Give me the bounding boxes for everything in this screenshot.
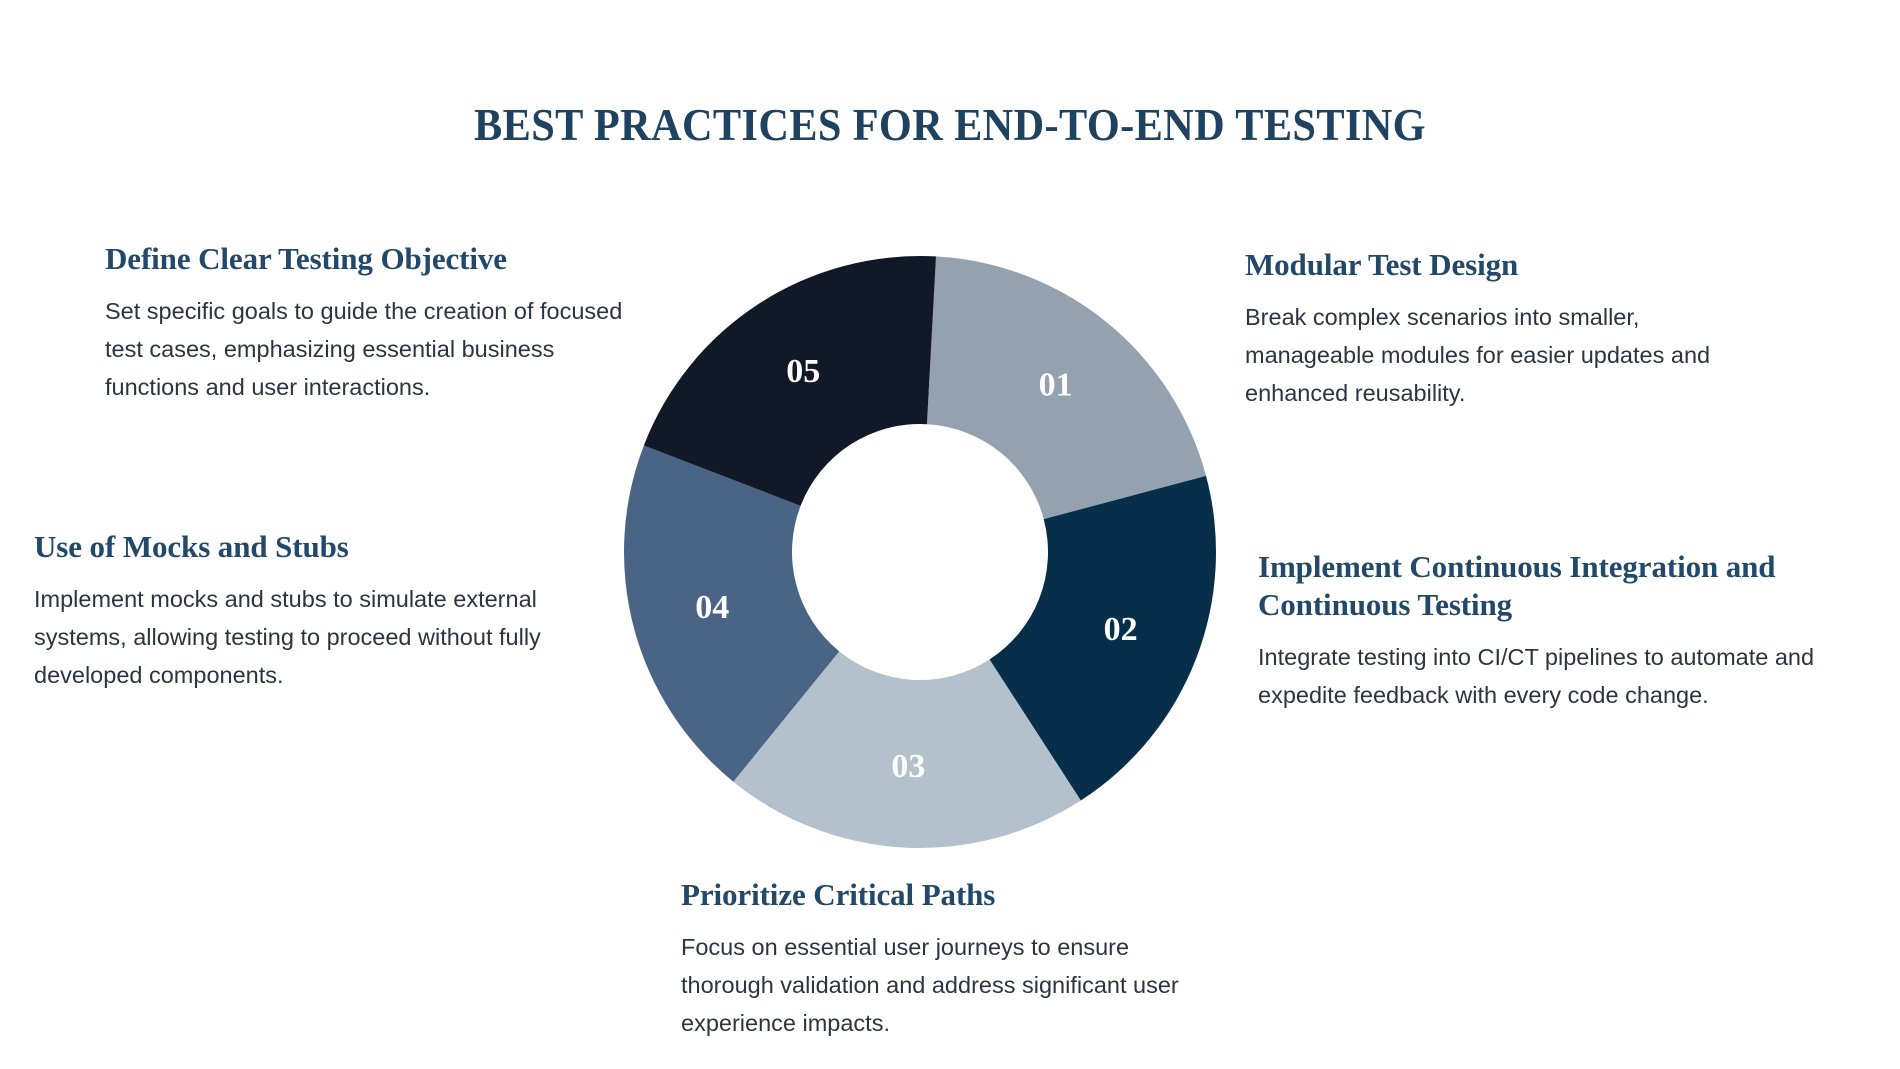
donut-segment-number-02: 02 (1104, 611, 1138, 648)
step-block-05: Use of Mocks and Stubs Implement mocks a… (34, 528, 614, 694)
step-heading-03: Implement Continuous Integration and Con… (1258, 548, 1818, 624)
page-title: BEST PRACTICES FOR END-TO-END TESTING (76, 98, 1824, 151)
step-heading-02: Modular Test Design (1245, 246, 1775, 284)
step-block-04: Prioritize Critical Paths Focus on essen… (681, 876, 1201, 1042)
step-body-01: Set specific goals to guide the creation… (105, 292, 625, 406)
step-block-03: Implement Continuous Integration and Con… (1258, 548, 1818, 714)
step-block-01: Define Clear Testing Objective Set speci… (105, 240, 625, 406)
donut-segment-number-05: 05 (786, 353, 820, 390)
step-block-02: Modular Test Design Break complex scenar… (1245, 246, 1775, 412)
donut-segment-number-03: 03 (891, 748, 925, 785)
donut-segment-number-01: 01 (1039, 367, 1073, 404)
donut-cycle-diagram: 0102030405 (604, 234, 1236, 866)
step-body-05: Implement mocks and stubs to simulate ex… (34, 580, 614, 694)
step-body-04: Focus on essential user journeys to ensu… (681, 928, 1201, 1042)
donut-svg: 0102030405 (604, 234, 1236, 866)
step-body-02: Break complex scenarios into smaller, ma… (1245, 298, 1775, 412)
step-heading-01: Define Clear Testing Objective (105, 240, 625, 278)
step-body-03: Integrate testing into CI/CT pipelines t… (1258, 638, 1818, 714)
step-heading-05: Use of Mocks and Stubs (34, 528, 614, 566)
step-heading-04: Prioritize Critical Paths (681, 876, 1201, 914)
donut-segment-number-04: 04 (695, 589, 729, 626)
